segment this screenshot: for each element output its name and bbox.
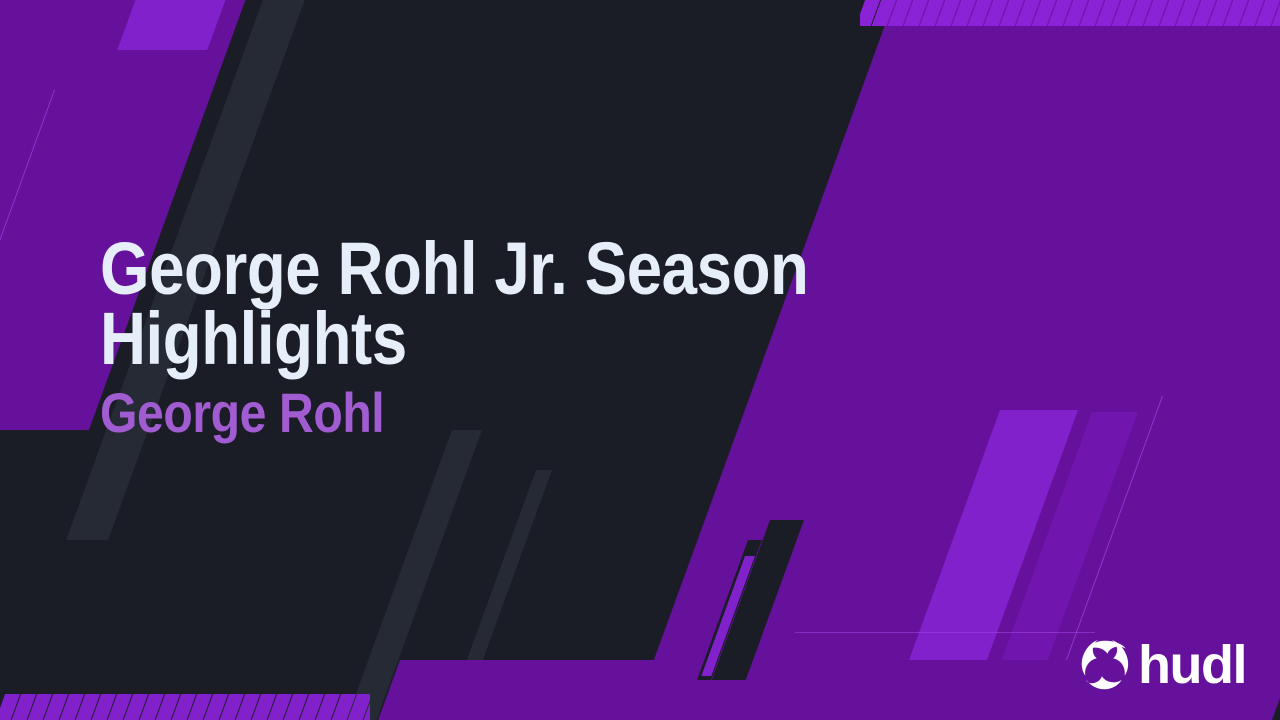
hudl-logo: hudl <box>1081 638 1246 692</box>
hudl-swirl-icon <box>1081 640 1129 690</box>
title-block: George Rohl Jr. Season Highlights George… <box>100 234 940 441</box>
decorative-hairline-horizontal <box>795 632 1095 633</box>
decorative-hazard-stripes-top-right <box>860 0 1280 26</box>
decorative-bottom-purple-band <box>371 660 1160 720</box>
athlete-name: George Rohl <box>100 385 822 441</box>
hudl-wordmark: hudl <box>1138 638 1246 692</box>
decorative-hazard-stripes-bottom-left <box>0 694 370 720</box>
video-title: George Rohl Jr. Season Highlights <box>100 234 822 375</box>
highlight-title-card: George Rohl Jr. Season Highlights George… <box>0 0 1280 720</box>
